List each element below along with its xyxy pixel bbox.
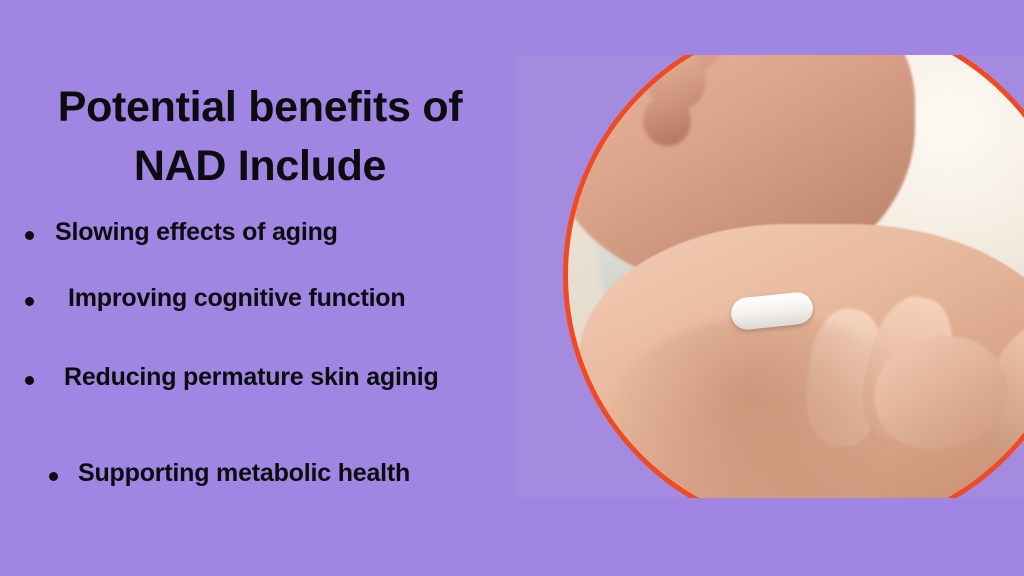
- slide-canvas: Potential benefits of NAD Include Slowin…: [0, 0, 1024, 576]
- list-item-label: Slowing effects of aging: [55, 218, 338, 247]
- finger: [643, 95, 691, 146]
- list-item: Slowing effects of aging: [0, 218, 545, 264]
- list-item-label: Supporting metabolic health: [78, 459, 410, 488]
- photo-clip-region: [515, 55, 1024, 498]
- list-item-label: Reducing permature skin aginig: [64, 363, 439, 392]
- page-title-line-2: NAD Include: [10, 137, 510, 196]
- list-item: Supporting metabolic health: [0, 459, 545, 505]
- text-column: Potential benefits of NAD Include Slowin…: [0, 0, 545, 576]
- finger: [584, 55, 654, 102]
- page-title-line-1: Potential benefits of: [10, 78, 510, 137]
- bullet-dot-icon: [25, 231, 34, 240]
- pill-in-hand-photo: [568, 55, 1024, 498]
- circular-photo-frame: [563, 55, 1024, 498]
- list-item: Improving cognitive function: [0, 284, 545, 330]
- page-title: Potential benefits of NAD Include: [10, 78, 510, 196]
- benefits-list: Slowing effects of aging Improving cogni…: [0, 218, 545, 505]
- list-item: Reducing permature skin aginig: [0, 363, 545, 409]
- bullet-dot-icon: [25, 376, 34, 385]
- bullet-dot-icon: [25, 297, 34, 306]
- list-item-label: Improving cognitive function: [68, 284, 405, 313]
- bullet-dot-icon: [49, 472, 58, 481]
